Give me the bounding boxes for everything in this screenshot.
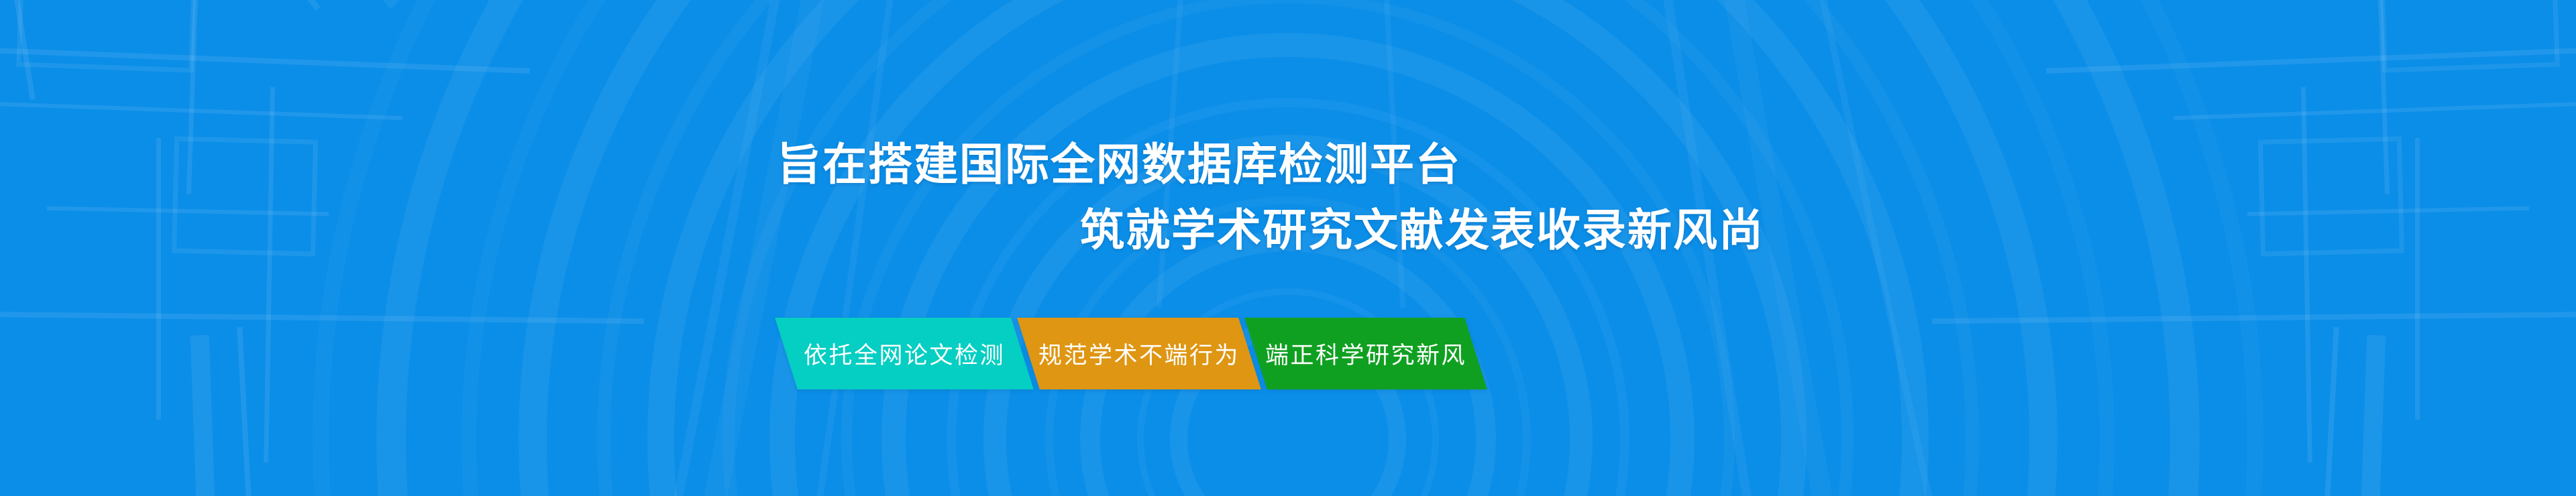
tag-academic-misconduct-label: 规范学术不端行为 <box>1038 336 1240 371</box>
feature-tag-group: 依托全网论文检测 规范学术不端行为 端正科学研究新风 <box>786 318 1476 389</box>
headline-line-1: 旨在搭建国际全网数据库检测平台 <box>0 131 2576 197</box>
tag-research-ethos-label: 端正科学研究新风 <box>1265 336 1466 371</box>
headline-line-2: 筑就学术研究文献发表收录新风尚 <box>0 197 2576 263</box>
tag-research-ethos[interactable]: 端正科学研究新风 <box>1244 318 1487 389</box>
tag-academic-misconduct[interactable]: 规范学术不端行为 <box>1017 318 1261 389</box>
promo-banner: 旨在搭建国际全网数据库检测平台 筑就学术研究文献发表收录新风尚 依托全网论文检测… <box>0 0 2576 496</box>
tag-paper-detection-label: 依托全网论文检测 <box>804 336 1005 371</box>
tag-paper-detection[interactable]: 依托全网论文检测 <box>775 318 1034 389</box>
headline-block: 旨在搭建国际全网数据库检测平台 筑就学术研究文献发表收录新风尚 <box>0 131 2576 263</box>
